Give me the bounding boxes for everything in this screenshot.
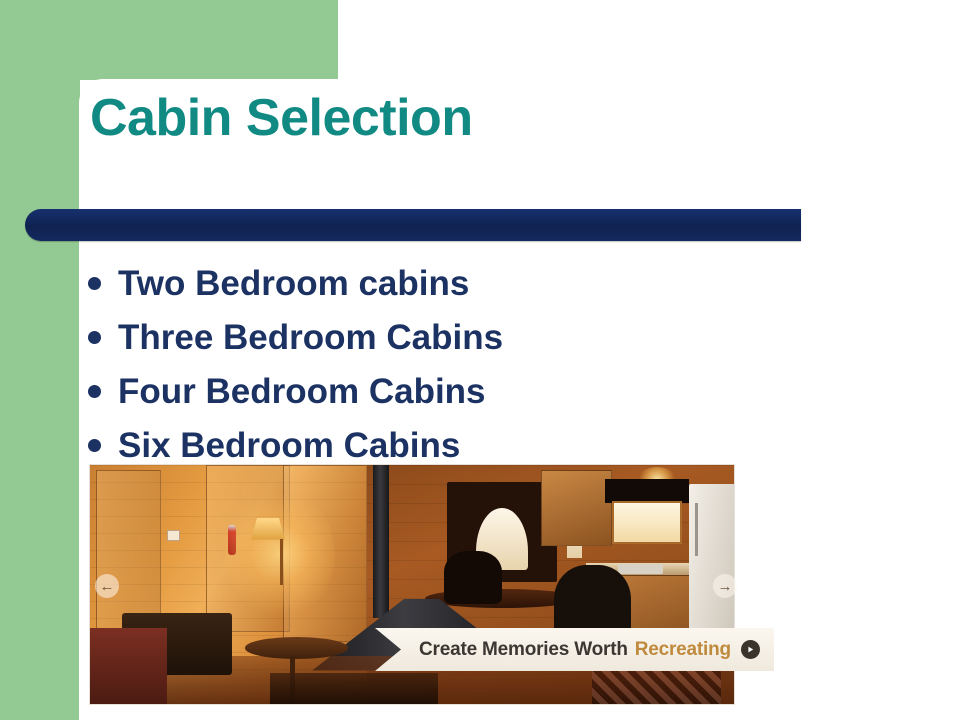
caption-accent-text: Recreating bbox=[635, 639, 731, 661]
lamp-stand bbox=[280, 539, 283, 585]
list-item: Three Bedroom Cabins bbox=[88, 310, 788, 364]
side-chair bbox=[90, 628, 167, 704]
list-item: Two Bedroom cabins bbox=[88, 256, 788, 310]
kitchen-window bbox=[612, 501, 683, 544]
bullet-dot-icon bbox=[88, 331, 101, 344]
upper-cabinet bbox=[541, 470, 612, 546]
photo-caption-ribbon: Create Memories Worth Recreating bbox=[375, 628, 774, 671]
wall-switch bbox=[167, 530, 180, 541]
bullet-label: Four Bedroom Cabins bbox=[118, 374, 486, 409]
list-item: Four Bedroom Cabins bbox=[88, 364, 788, 418]
bullet-dot-icon bbox=[88, 277, 101, 290]
bullet-label: Two Bedroom cabins bbox=[118, 266, 469, 301]
bullet-label: Six Bedroom Cabins bbox=[118, 428, 460, 463]
green-top-block bbox=[0, 0, 338, 80]
bullet-list: Two Bedroom cabins Three Bedroom Cabins … bbox=[88, 256, 788, 472]
bullet-label: Three Bedroom Cabins bbox=[118, 320, 503, 355]
play-icon[interactable] bbox=[741, 640, 760, 659]
bullet-dot-icon bbox=[88, 439, 101, 452]
chevron-left-icon[interactable]: ← bbox=[95, 574, 119, 598]
refrigerator-handle bbox=[695, 503, 698, 556]
stove-chimney bbox=[373, 465, 389, 618]
caption-text: Create Memories Worth bbox=[419, 639, 628, 661]
foreground-bench bbox=[270, 673, 437, 704]
round-side-table bbox=[245, 637, 348, 659]
chevron-right-icon[interactable]: → bbox=[713, 574, 737, 598]
presentation-slide: Cabin Selection Two Bedroom cabins Three… bbox=[0, 0, 960, 720]
kitchen-sink bbox=[618, 564, 663, 574]
bullet-dot-icon bbox=[88, 385, 101, 398]
slide-title: Cabin Selection bbox=[90, 88, 473, 148]
window-valance bbox=[605, 479, 689, 503]
navy-divider-bar bbox=[25, 209, 801, 241]
green-left-strip bbox=[0, 0, 80, 720]
dining-chair bbox=[444, 551, 502, 604]
